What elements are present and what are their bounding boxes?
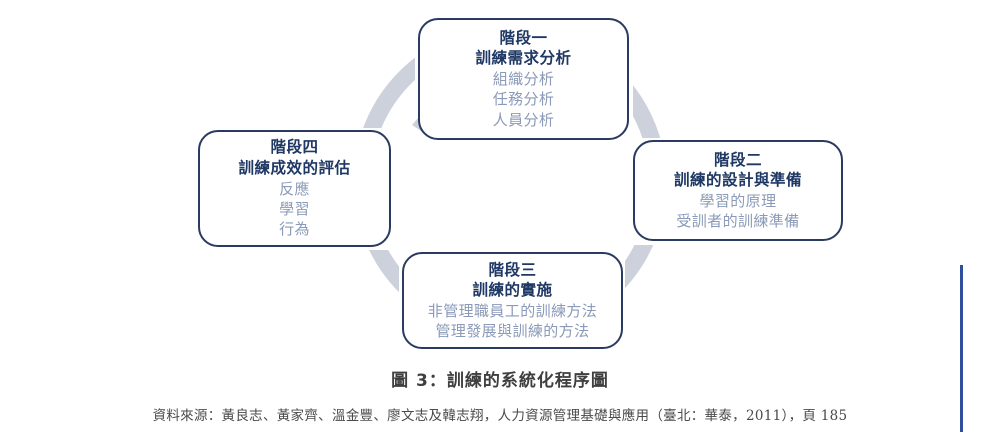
stage-1-item-2: 任務分析 [493,89,555,109]
stage-box-3[interactable]: 階段三 訓練的實施 非管理職員工的訓練方法 管理發展與訓練的方法 [402,252,623,349]
stage-2-item-2: 受訓者的訓練準備 [676,211,799,231]
stage-3-subtitle: 訓練的實施 [472,280,552,301]
stage-3-item-1: 非管理職員工的訓練方法 [428,301,597,321]
stage-box-1[interactable]: 階段一 訓練需求分析 組織分析 任務分析 人員分析 [418,18,629,140]
stage-4-item-2: 學習 [279,199,310,219]
right-margin-rule [960,265,963,432]
stage-box-2[interactable]: 階段二 訓練的設計與準備 學習的原理 受訓者的訓練準備 [633,140,843,241]
figure-caption: 圖 3：訓練的系統化程序圖 [0,366,1000,391]
stage-4-subtitle: 訓練成效的評估 [238,158,350,179]
figure-source: 資料來源：黃良志、黃家齊、溫金豐、廖文志及韓志翔，人力資源管理基礎與應用（臺北：… [0,404,1000,424]
stage-4-item-1: 反應 [279,179,310,199]
stage-2-subtitle: 訓練的設計與準備 [674,170,802,191]
stage-2-item-1: 學習的原理 [699,191,776,211]
stage-3-title: 階段三 [488,260,536,281]
stage-1-item-1: 組織分析 [493,69,555,89]
figure-canvas: 階段一 訓練需求分析 組織分析 任務分析 人員分析 階段二 訓練的設計與準備 學… [0,0,1000,432]
stage-1-title: 階段一 [499,28,547,49]
stage-3-item-2: 管理發展與訓練的方法 [435,321,589,341]
stage-1-subtitle: 訓練需求分析 [475,48,571,69]
stage-4-title: 階段四 [270,137,318,158]
stage-1-item-3: 人員分析 [493,110,555,130]
stage-2-title: 階段二 [714,150,762,171]
stage-4-item-3: 行為 [279,219,310,239]
stage-box-4[interactable]: 階段四 訓練成效的評估 反應 學習 行為 [198,130,391,247]
